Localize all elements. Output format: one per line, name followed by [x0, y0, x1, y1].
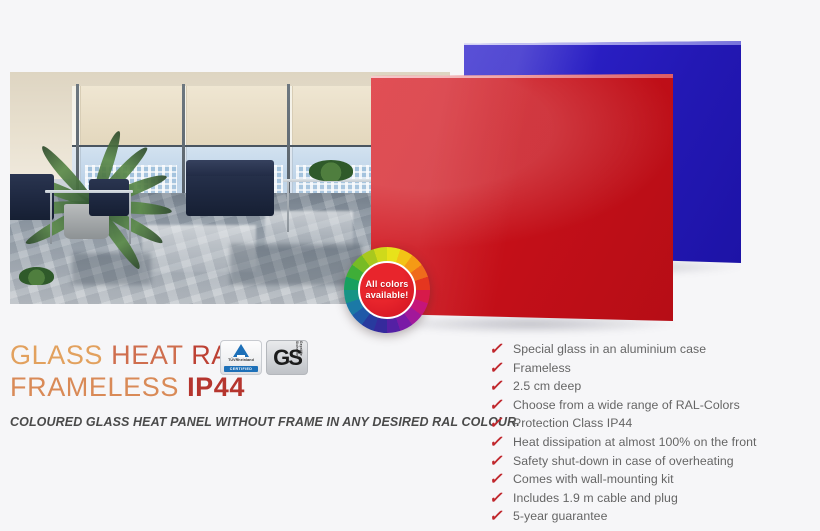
list-item: ✓2.5 cm deep: [489, 378, 809, 397]
photo-table-leg: [287, 181, 289, 232]
tuv-rheinland-badge: TÜVRheinland CERTIFIED: [220, 340, 262, 375]
check-icon: ✓: [489, 454, 513, 470]
feature-text: Comes with wall-mounting kit: [513, 472, 674, 486]
photo-shadow: [230, 244, 362, 286]
list-item: ✓5-year guarantee: [489, 508, 809, 527]
photo-shadow: [72, 253, 151, 285]
photo-side-table: [45, 190, 133, 193]
check-icon: ✓: [489, 379, 513, 395]
check-icon: ✓: [489, 435, 513, 451]
title-word-glass: GLASS: [10, 340, 103, 370]
list-item: ✓Special glass in an aluminium case: [489, 341, 809, 360]
list-item: ✓Comes with wall-mounting kit: [489, 471, 809, 490]
check-icon: ✓: [489, 361, 513, 377]
list-item: ✓Includes 1.9 m cable and plug: [489, 490, 809, 509]
feature-text: Choose from a wide range of RAL-Colors: [513, 398, 740, 412]
photo-table-plant: [309, 160, 353, 181]
tuv-certified-label: CERTIFIED: [224, 366, 258, 372]
photo-floor-plant: [19, 267, 54, 286]
color-wheel-hub: All colorsavailable!: [358, 261, 416, 319]
tuv-brand-label: TÜVRheinland: [228, 358, 254, 362]
feature-text: Includes 1.9 m cable and plug: [513, 491, 678, 505]
title-word-ip44: IP44: [187, 372, 245, 402]
list-item: ✓Safety shut-down in case of overheating: [489, 453, 809, 472]
check-icon: ✓: [489, 509, 513, 525]
feature-text: Protection Class IP44: [513, 416, 632, 430]
list-item: ✓Frameless: [489, 360, 809, 379]
photo-armchair: [10, 174, 54, 220]
photo-armchair-back: [186, 160, 274, 176]
certification-badges: TÜVRheinland CERTIFIED GS Geprüfte Siche…: [220, 340, 308, 375]
feature-list: ✓Special glass in an aluminium case ✓Fra…: [489, 341, 809, 527]
feature-text: Special glass in an aluminium case: [513, 342, 706, 356]
photo-table-leg: [50, 193, 52, 244]
color-wheel-label: All colorsavailable!: [365, 279, 408, 300]
product-banner: All colorsavailable! GLASS HEAT RAL FRAM…: [0, 0, 820, 531]
color-wheel-label-line1: All colors: [365, 279, 408, 289]
feature-text: Frameless: [513, 361, 571, 375]
list-item: ✓Protection Class IP44: [489, 415, 809, 434]
check-icon: ✓: [489, 342, 513, 358]
gs-sub-label: Geprüfte Sicherheit: [295, 341, 303, 370]
feature-text: Heat dissipation at almost 100% on the f…: [513, 435, 757, 449]
photo-armchair: [89, 179, 129, 216]
gs-safety-badge: GS Geprüfte Sicherheit: [266, 340, 308, 375]
feature-text: 2.5 cm deep: [513, 379, 581, 393]
product-title-line-2: FRAMELESS IP44: [10, 372, 450, 404]
feature-text: 5-year guarantee: [513, 509, 607, 523]
color-wheel-badge: All colorsavailable!: [344, 247, 430, 333]
photo-table-leg: [129, 193, 131, 244]
check-icon: ✓: [489, 472, 513, 488]
check-icon: ✓: [489, 398, 513, 414]
tuv-triangle-icon: [233, 344, 249, 357]
title-word-heat: HEAT: [111, 340, 183, 370]
photo-blind: [186, 86, 287, 146]
title-word-frameless: FRAMELESS: [10, 372, 179, 402]
check-icon: ✓: [489, 416, 513, 432]
list-item: ✓Choose from a wide range of RAL-Colors: [489, 397, 809, 416]
list-item: ✓Heat dissipation at almost 100% on the …: [489, 434, 809, 453]
color-wheel-label-line2: available!: [365, 290, 408, 300]
feature-text: Safety shut-down in case of overheating: [513, 454, 734, 468]
product-subtitle: COLOURED GLASS HEAT PANEL WITHOUT FRAME …: [10, 415, 520, 429]
check-icon: ✓: [489, 491, 513, 507]
